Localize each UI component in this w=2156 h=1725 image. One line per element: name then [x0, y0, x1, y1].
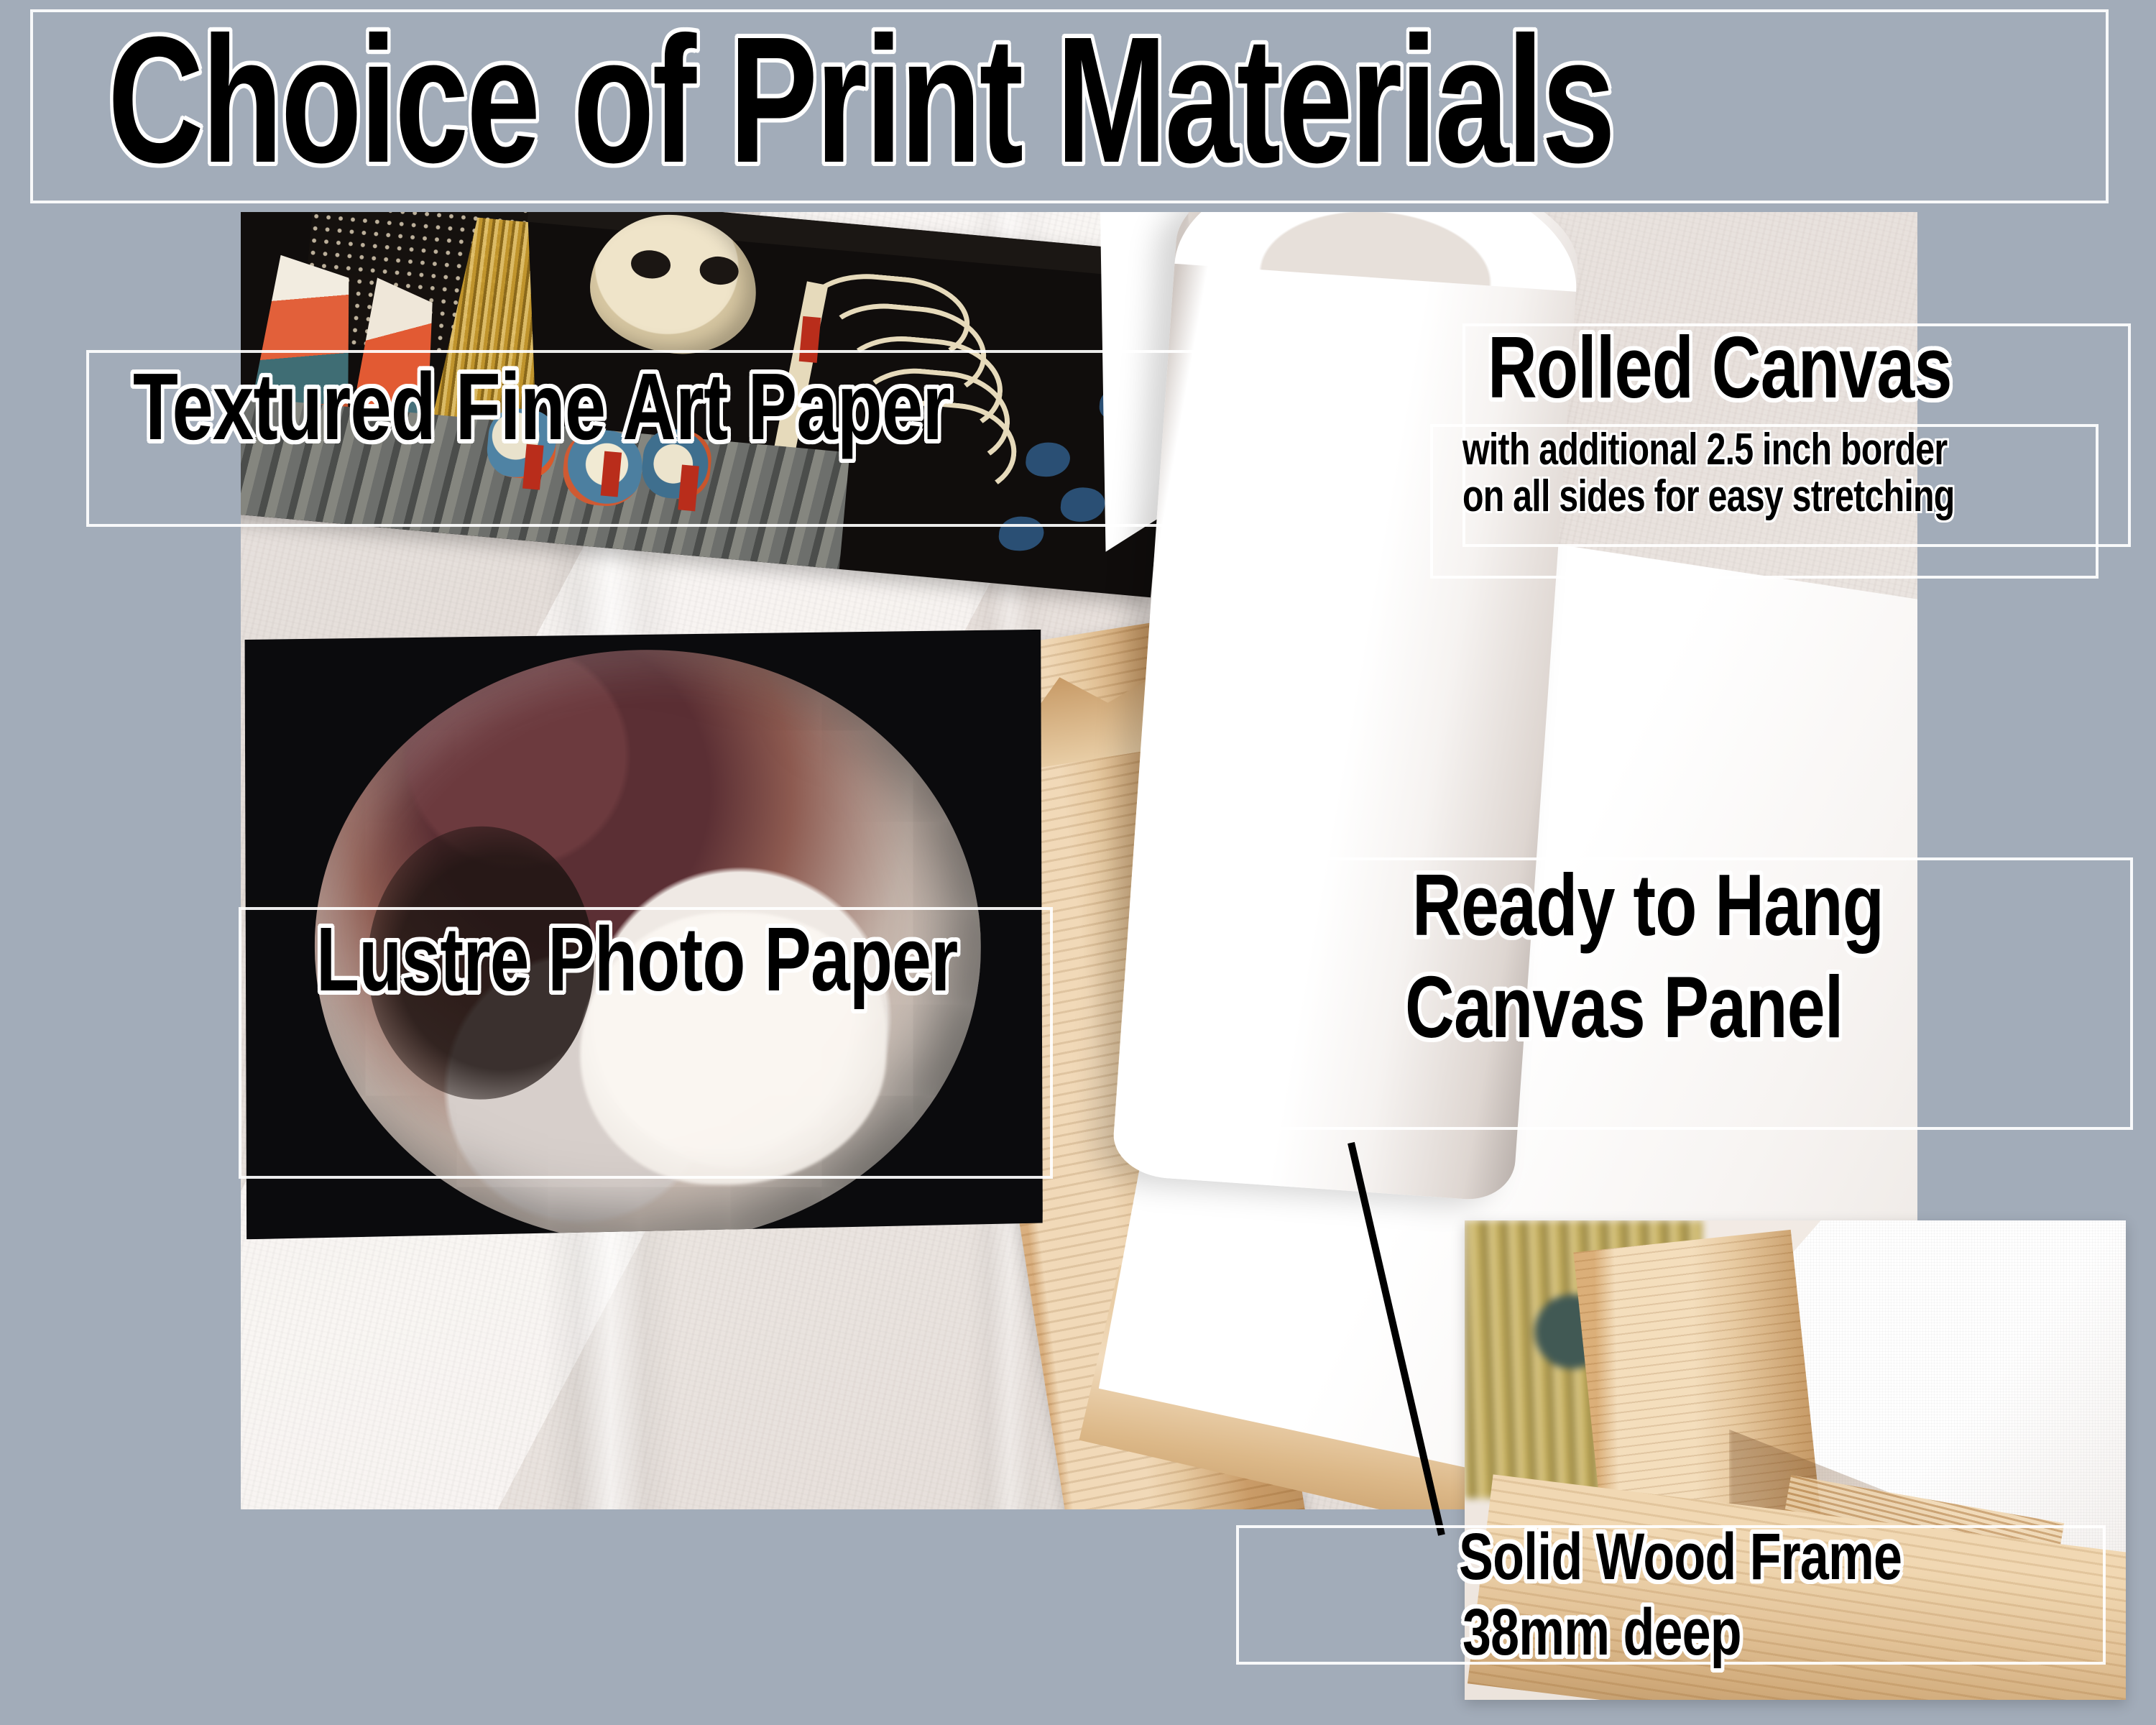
label-rolled-canvas: Rolled Canvas — [1488, 323, 1952, 411]
rolled-canvas-core — [1187, 212, 1355, 272]
label-ready-to-hang-line-2: Canvas Panel — [1405, 963, 1843, 1051]
label-textured-fine-art-paper: Textured Fine Art Paper — [133, 359, 951, 454]
promo-graphic-canvas: Choice of Print Materials Textured Fine … — [0, 0, 2156, 1725]
label-solid-wood-frame-line-1: Solid Wood Frame — [1459, 1524, 1902, 1590]
label-rolled-canvas-subline-2: on all sides for easy stretching — [1462, 474, 1955, 519]
label-solid-wood-frame-line-2: 38mm deep — [1462, 1599, 1741, 1665]
label-rolled-canvas-subline-1: with additional 2.5 inch border — [1462, 428, 1947, 472]
label-ready-to-hang-line-1: Ready to Hang — [1412, 861, 1884, 949]
page-title: Choice of Print Materials — [108, 10, 1613, 190]
label-lustre-photo-paper: Lustre Photo Paper — [316, 914, 957, 1005]
